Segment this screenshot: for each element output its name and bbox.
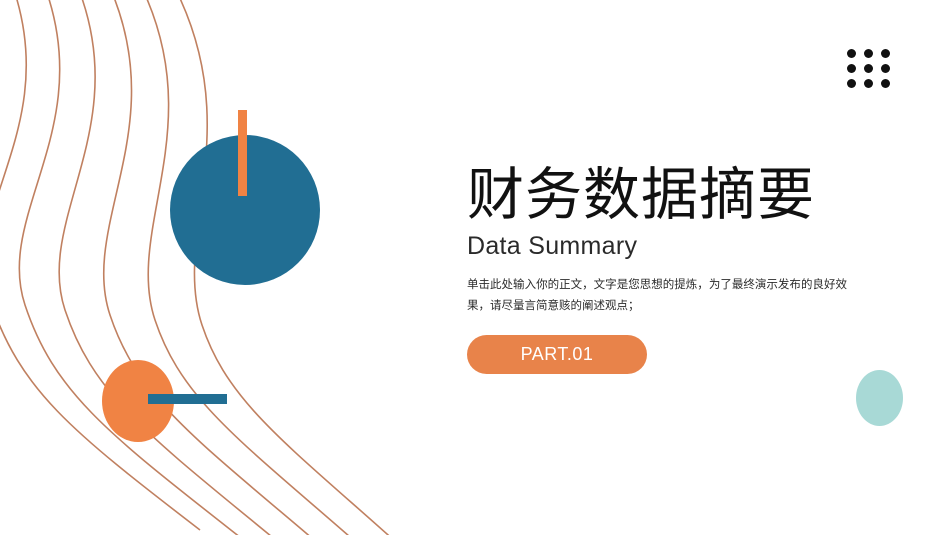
grid-dot-icon — [864, 49, 873, 58]
grid-dot-icon — [881, 64, 890, 73]
slide-title-chinese: 财务数据摘要 — [467, 166, 867, 226]
slide-subtitle-english: Data Summary — [467, 232, 867, 261]
grid-dot-icon — [881, 49, 890, 58]
part-number-button[interactable]: PART.01 — [467, 335, 647, 374]
grid-dot-icon — [847, 79, 856, 88]
blue-horizontal-bar — [148, 394, 227, 404]
grid-dot-icon — [847, 49, 856, 58]
presentation-slide: 财务数据摘要 Data Summary 单击此处输入你的正文，文字是您思想的提炼… — [0, 0, 950, 535]
grid-dot-icon — [881, 79, 890, 88]
orange-vertical-bar — [238, 110, 247, 196]
slide-content-block: 财务数据摘要 Data Summary 单击此处输入你的正文，文字是您思想的提炼… — [467, 166, 867, 374]
grid-dot-icon — [864, 64, 873, 73]
teal-circle-shape — [856, 370, 903, 426]
dot-grid-decoration — [847, 49, 890, 88]
slide-body-text: 单击此处输入你的正文，文字是您思想的提炼，为了最终演示发布的良好效果，请尽量言简… — [467, 275, 847, 318]
grid-dot-icon — [847, 64, 856, 73]
curve-line-1 — [0, 0, 200, 530]
grid-dot-icon — [864, 79, 873, 88]
